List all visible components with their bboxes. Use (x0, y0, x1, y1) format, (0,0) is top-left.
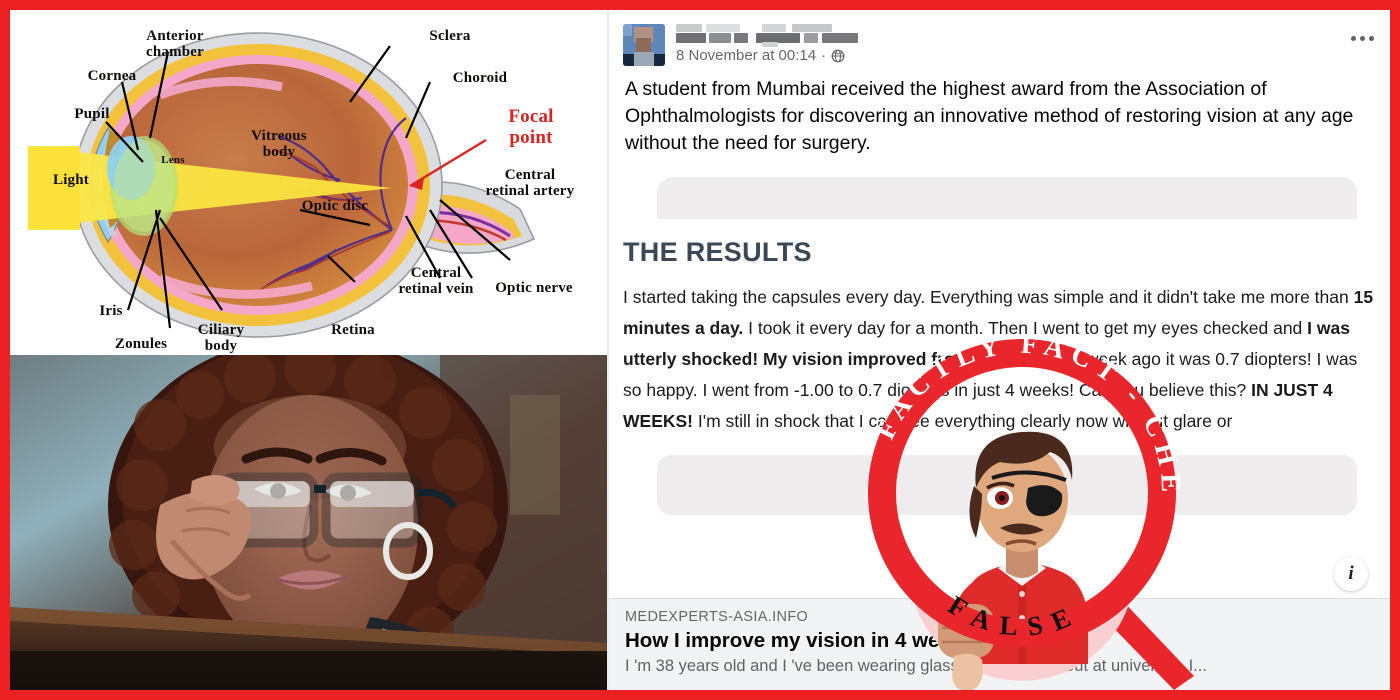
eye-label-cornea: Cornea (66, 68, 158, 84)
red-border-frame: Anteriorchamber Cornea Pupil Light Lens … (0, 0, 1400, 700)
info-icon[interactable]: i (1334, 557, 1368, 591)
meta-separator: · (821, 47, 826, 64)
article-heading: THE RESULTS (609, 219, 1390, 268)
woman-glasses-photo (10, 355, 607, 690)
link-title[interactable]: How I improve my vision in 4 weeks (625, 628, 1374, 654)
eye-label-anterior-chamber: Anteriorchamber (120, 28, 230, 60)
author-name-redacted[interactable] (676, 23, 906, 46)
link-preview-card[interactable]: i MEDEXPERTS-ASIA.INFO How I improve my … (609, 598, 1390, 690)
eye-label-ciliary-body: Ciliarybody (184, 322, 258, 354)
eye-label-sclera: Sclera (408, 28, 492, 44)
eye-label-central-retinal-vein: Centralretinal vein (376, 265, 496, 297)
post-timestamp[interactable]: 8 November at 00:14 (676, 47, 816, 64)
article-text-normal: I started taking the capsules every day.… (623, 287, 1354, 307)
post-author-block: 8 November at 00:14 · (676, 22, 906, 64)
eye-label-light: Light (36, 172, 106, 188)
post-header: 8 November at 00:14 · (609, 10, 1390, 66)
eye-label-choroid: Choroid (434, 70, 526, 86)
article-text-normal: I took it every day for a month. Then I … (743, 318, 1307, 338)
article-image-placeholder-bottom (657, 455, 1357, 515)
eye-label-focal-point: Focalpoint (488, 106, 574, 148)
avatar[interactable] (623, 24, 665, 66)
more-options-icon[interactable] (1351, 36, 1374, 41)
post-body-text: A student from Mumbai received the highe… (609, 66, 1390, 171)
eye-label-zonules: Zonules (96, 336, 186, 352)
link-description: I 'm 38 years old and I 've been wearing… (625, 657, 1374, 676)
fact-check-card: Anteriorchamber Cornea Pupil Light Lens … (10, 10, 1390, 690)
article-text-normal: I'm still in shock that I can see everyt… (693, 411, 1232, 431)
eye-label-iris: Iris (88, 303, 134, 319)
post-meta: 8 November at 00:14 · (676, 47, 906, 64)
eye-label-vitreous-body: Vitreousbody (222, 128, 336, 160)
eye-label-central-retinal-artery: Centralretinal artery (460, 167, 600, 199)
eye-anatomy-diagram: Anteriorchamber Cornea Pupil Light Lens … (10, 10, 607, 355)
article-paragraph: I started taking the capsules every day.… (609, 268, 1384, 437)
eye-label-optic-disc: Optic disc (282, 198, 388, 214)
eye-label-pupil: Pupil (54, 106, 130, 122)
article-image-placeholder-top (657, 177, 1357, 219)
embedded-article: THE RESULTS I started taking the capsule… (609, 177, 1390, 515)
link-domain: MEDEXPERTS-ASIA.INFO (625, 609, 1374, 625)
facebook-post-panel: 8 November at 00:14 · A student from Mum… (607, 10, 1390, 690)
globe-icon (831, 49, 845, 63)
eye-label-lens: Lens (150, 152, 196, 168)
left-image-column: Anteriorchamber Cornea Pupil Light Lens … (10, 10, 607, 690)
eye-label-retina: Retina (316, 322, 390, 338)
